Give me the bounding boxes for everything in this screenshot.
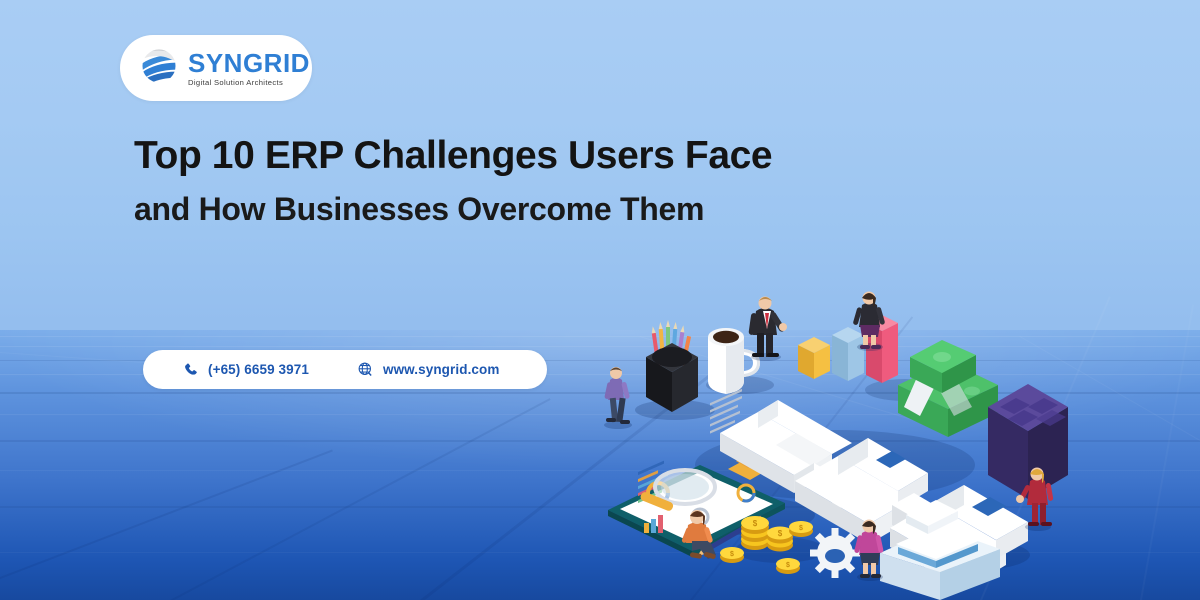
logo-wordmark: SYNGRID [188,50,310,76]
bar-chart-icon [798,315,898,383]
website-url: www.syngrid.com [383,362,500,377]
contact-bar: (+65) 6659 3971 www.syngrid.com [143,350,547,389]
contact-website[interactable]: www.syngrid.com [357,361,500,378]
person-walking-purple [604,367,632,429]
pencil-cup-icon [646,320,698,412]
globe-icon [357,361,374,378]
phone-icon [183,362,199,378]
page-title: Top 10 ERP Challenges Users Face [134,136,772,177]
page-subtitle: and How Businesses Overcome Them [134,192,704,227]
svg-text:$: $ [778,529,783,538]
money-stack-icon [898,340,998,437]
banner-root: SYNGRID Digital Solution Architects Top … [0,0,1200,600]
logo-tagline: Digital Solution Architects [188,79,310,87]
person-businessman-suit [748,297,787,362]
svg-text:$: $ [753,519,758,528]
globe-stripes-logo-icon [138,45,180,92]
logo-pill[interactable]: SYNGRID Digital Solution Architects [120,35,312,101]
contact-phone[interactable]: (+65) 6659 3971 [183,362,309,378]
svg-text:$: $ [730,551,734,558]
isometric-erp-illustration: $ $ $ $ $ [580,285,1200,600]
svg-text:$: $ [786,562,790,569]
phone-number: (+65) 6659 3971 [208,362,309,377]
svg-text:$: $ [799,525,803,532]
gear-icon [810,528,860,578]
